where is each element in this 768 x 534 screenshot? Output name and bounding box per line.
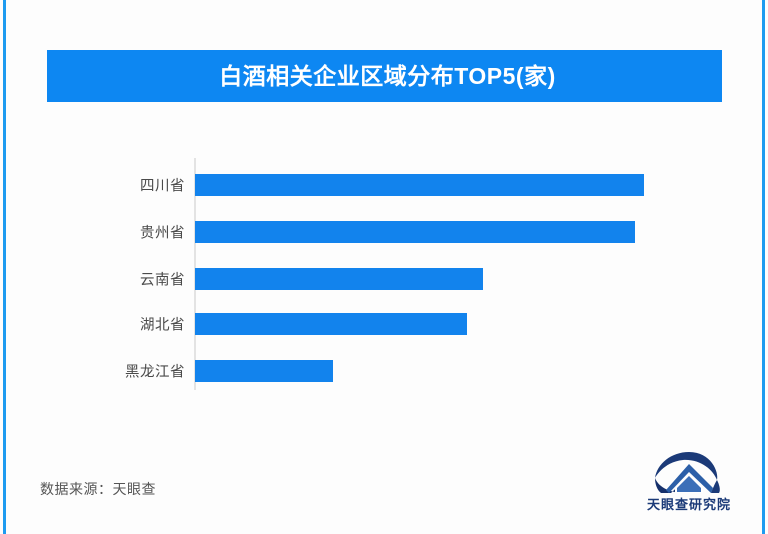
chart-bar-row: 四川省 <box>0 174 768 196</box>
bar-rect[interactable] <box>195 360 333 382</box>
infographic-page: 白酒相关企业区域分布TOP5(家) 四川省 贵州省 云南省 湖北省 黑龙江省 数… <box>0 0 768 534</box>
data-source-note: 数据来源：天眼查 <box>40 479 156 499</box>
bar-category-label: 云南省 <box>140 269 185 290</box>
bar-rect[interactable] <box>195 313 467 335</box>
chart-bar-row: 黑龙江省 <box>0 360 768 382</box>
tianyancha-eye-arc-logo-icon <box>653 450 725 494</box>
bar-category-label: 黑龙江省 <box>125 361 185 382</box>
chart-bar-row: 湖北省 <box>0 313 768 335</box>
title-banner: 白酒相关企业区域分布TOP5(家) <box>47 50 722 102</box>
brand-logo: 天眼查研究院 <box>637 450 741 516</box>
bar-category-label: 湖北省 <box>140 314 185 335</box>
bar-category-label: 贵州省 <box>140 222 185 243</box>
chart-bar-row: 云南省 <box>0 268 768 290</box>
bar-rect[interactable] <box>195 268 483 290</box>
brand-logo-text: 天眼查研究院 <box>637 494 741 513</box>
chart-bar-row: 贵州省 <box>0 221 768 243</box>
page-title: 白酒相关企业区域分布TOP5(家) <box>213 65 555 88</box>
bar-rect[interactable] <box>195 174 644 196</box>
bar-rect[interactable] <box>195 221 635 243</box>
bar-category-label: 四川省 <box>140 175 185 196</box>
bar-chart: 四川省 贵州省 云南省 湖北省 黑龙江省 <box>0 150 768 400</box>
